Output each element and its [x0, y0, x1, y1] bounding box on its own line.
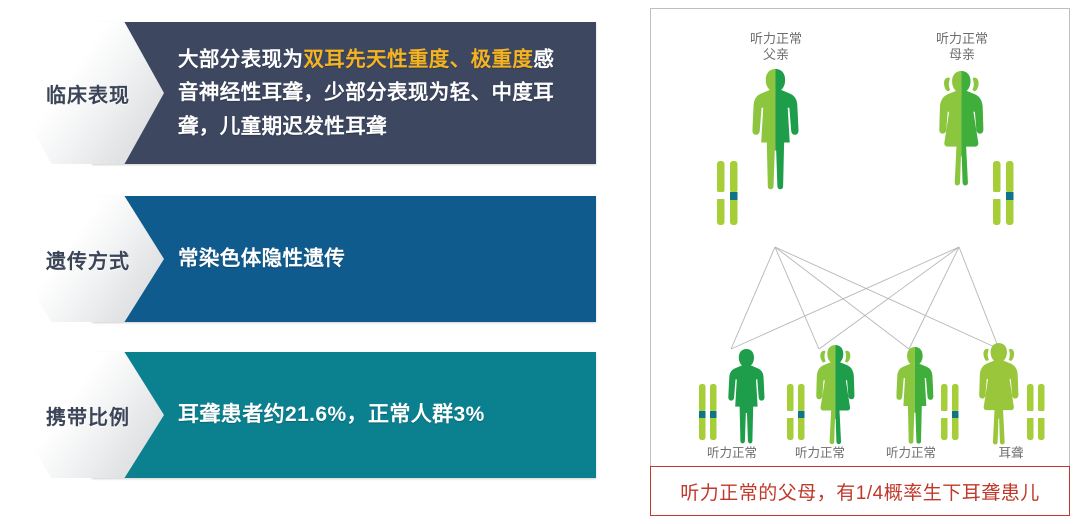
inheritance-text: 常染色体隐性遗传 — [178, 247, 345, 270]
clinical-text-part-1: 大部分表现为 — [178, 48, 303, 71]
pedigree-mother-figure — [939, 71, 983, 185]
row-text-carrier: 耳聋患者约21.6%，正常人群3% — [178, 352, 556, 478]
row-text-clinical: 大部分表现为双耳先天性重度、极重度感音神经性耳聋，少部分表现为轻、中度耳聋，儿童… — [178, 22, 556, 164]
carrier-text: 耳聋患者约21.6%，正常人群3% — [178, 403, 485, 426]
label-father: 听力正常 父亲 — [731, 31, 821, 64]
info-row-carrier: 耳聋患者约21.6%，正常人群3% 携带比例 — [0, 352, 600, 478]
key-facts-panel: 大部分表现为双耳先天性重度、极重度感音神经性耳聋，少部分表现为轻、中度耳聋，儿童… — [0, 0, 640, 524]
hex-label-inheritance: 遗传方式 — [46, 245, 130, 274]
pedigree-child-3-chromosomes — [941, 384, 959, 440]
label-mother-line2: 母亲 — [917, 47, 1007, 63]
pedigree-connectors — [731, 247, 999, 349]
label-child-2: 听力正常 — [775, 446, 865, 462]
label-child-3: 听力正常 — [866, 446, 956, 462]
pedigree-child-1-figure — [728, 349, 764, 443]
row-text-inheritance: 常染色体隐性遗传 — [178, 196, 556, 322]
pedigree-child-3-figure — [896, 347, 933, 444]
label-father-line2: 父亲 — [731, 47, 821, 63]
pedigree-panel: 听力正常 父亲 听力正常 母亲 听力正常 听力正常 听力正常 耳聋 听力正常的父… — [650, 8, 1070, 516]
pedigree-child-2-figure — [816, 345, 854, 444]
label-child-4: 耳聋 — [966, 446, 1056, 462]
label-mother-line1: 听力正常 — [917, 31, 1007, 47]
pedigree-diagram: 听力正常 父亲 听力正常 母亲 听力正常 听力正常 听力正常 耳聋 — [651, 9, 1069, 464]
info-row-clinical: 大部分表现为双耳先天性重度、极重度感音神经性耳聋，少部分表现为轻、中度耳聋，儿童… — [0, 22, 600, 164]
pedigree-father-figure — [752, 69, 798, 189]
label-father-line1: 听力正常 — [731, 31, 821, 47]
pedigree-child-1-chromosomes — [699, 384, 717, 440]
info-row-inheritance: 常染色体隐性遗传 遗传方式 — [0, 196, 600, 322]
conclusion-caption-box: 听力正常的父母，有1/4概率生下耳聋患儿 — [650, 466, 1070, 516]
pedigree-child-4-chromosomes — [1027, 384, 1045, 440]
label-child-1: 听力正常 — [687, 446, 777, 462]
clinical-text-highlight: 双耳先天性重度、极重度 — [303, 48, 533, 71]
pedigree-father-chromosomes — [717, 161, 738, 225]
label-mother: 听力正常 母亲 — [917, 31, 1007, 64]
hex-label-carrier: 携带比例 — [46, 401, 130, 430]
pedigree-child-4-figure — [979, 343, 1018, 444]
conclusion-caption-text: 听力正常的父母，有1/4概率生下耳聋患儿 — [680, 478, 1039, 505]
pedigree-child-2-chromosomes — [787, 384, 805, 440]
hex-label-clinical: 临床表现 — [46, 79, 130, 108]
pedigree-mother-chromosomes — [993, 161, 1014, 225]
